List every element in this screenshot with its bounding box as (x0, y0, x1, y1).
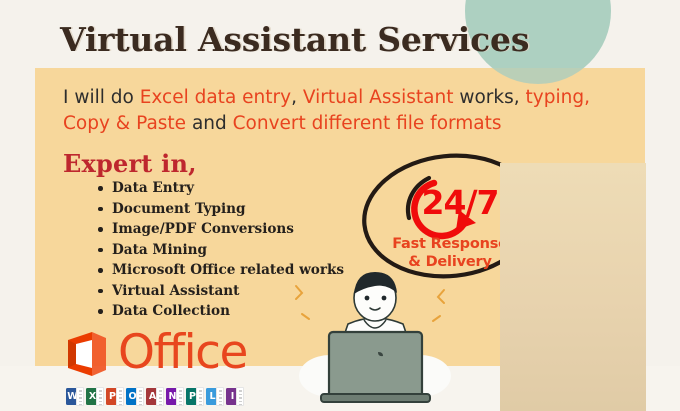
laptop-illustration (288, 270, 463, 411)
desc-highlight-copypaste: Copy & Paste (63, 113, 186, 134)
list-item: Document Typing (112, 199, 344, 220)
desc-highlight-excel: Excel data entry (140, 87, 291, 108)
list-item: Data Mining (112, 240, 344, 261)
desc-highlight-convert: Convert different file formats (233, 113, 502, 134)
desc-highlight-typing: typing, (526, 87, 590, 108)
badge-number: 24/7 (410, 183, 510, 222)
lync-icon: L (206, 387, 224, 406)
desc-text-3: works, (453, 87, 525, 108)
desc-text-1: I will do (63, 87, 140, 108)
gig-thumbnail: Virtual Assistant Services I will do Exc… (0, 0, 680, 411)
laptop-lid (329, 332, 422, 400)
list-item: Data Entry (112, 178, 344, 199)
access-icon: A (146, 387, 164, 406)
list-item: Image/PDF Conversions (112, 219, 344, 240)
powerpoint-icon: P (106, 387, 124, 406)
service-description: I will do Excel data entry, Virtual Assi… (63, 85, 633, 137)
profile-photo (500, 163, 646, 411)
desc-highlight-va: Virtual Assistant (303, 87, 454, 108)
office-logo: Office (62, 330, 247, 378)
desc-text-4: and (186, 113, 233, 134)
page-title: Virtual Assistant Services (60, 20, 529, 59)
expert-heading: Expert in, (63, 149, 197, 178)
office-mark-icon (62, 330, 110, 378)
word-icon: W (66, 387, 84, 406)
excel-icon: X (86, 387, 104, 406)
publisher-icon: P (186, 387, 204, 406)
office-app-icons: W X P O A N P L (66, 387, 244, 406)
outlook-icon: O (126, 387, 144, 406)
onenote-icon: N (166, 387, 184, 406)
desc-text-2: , (291, 87, 303, 108)
sage-circle-overlap (465, 68, 611, 84)
infopath-icon: I (226, 387, 244, 406)
office-wordmark: Office (118, 329, 247, 376)
